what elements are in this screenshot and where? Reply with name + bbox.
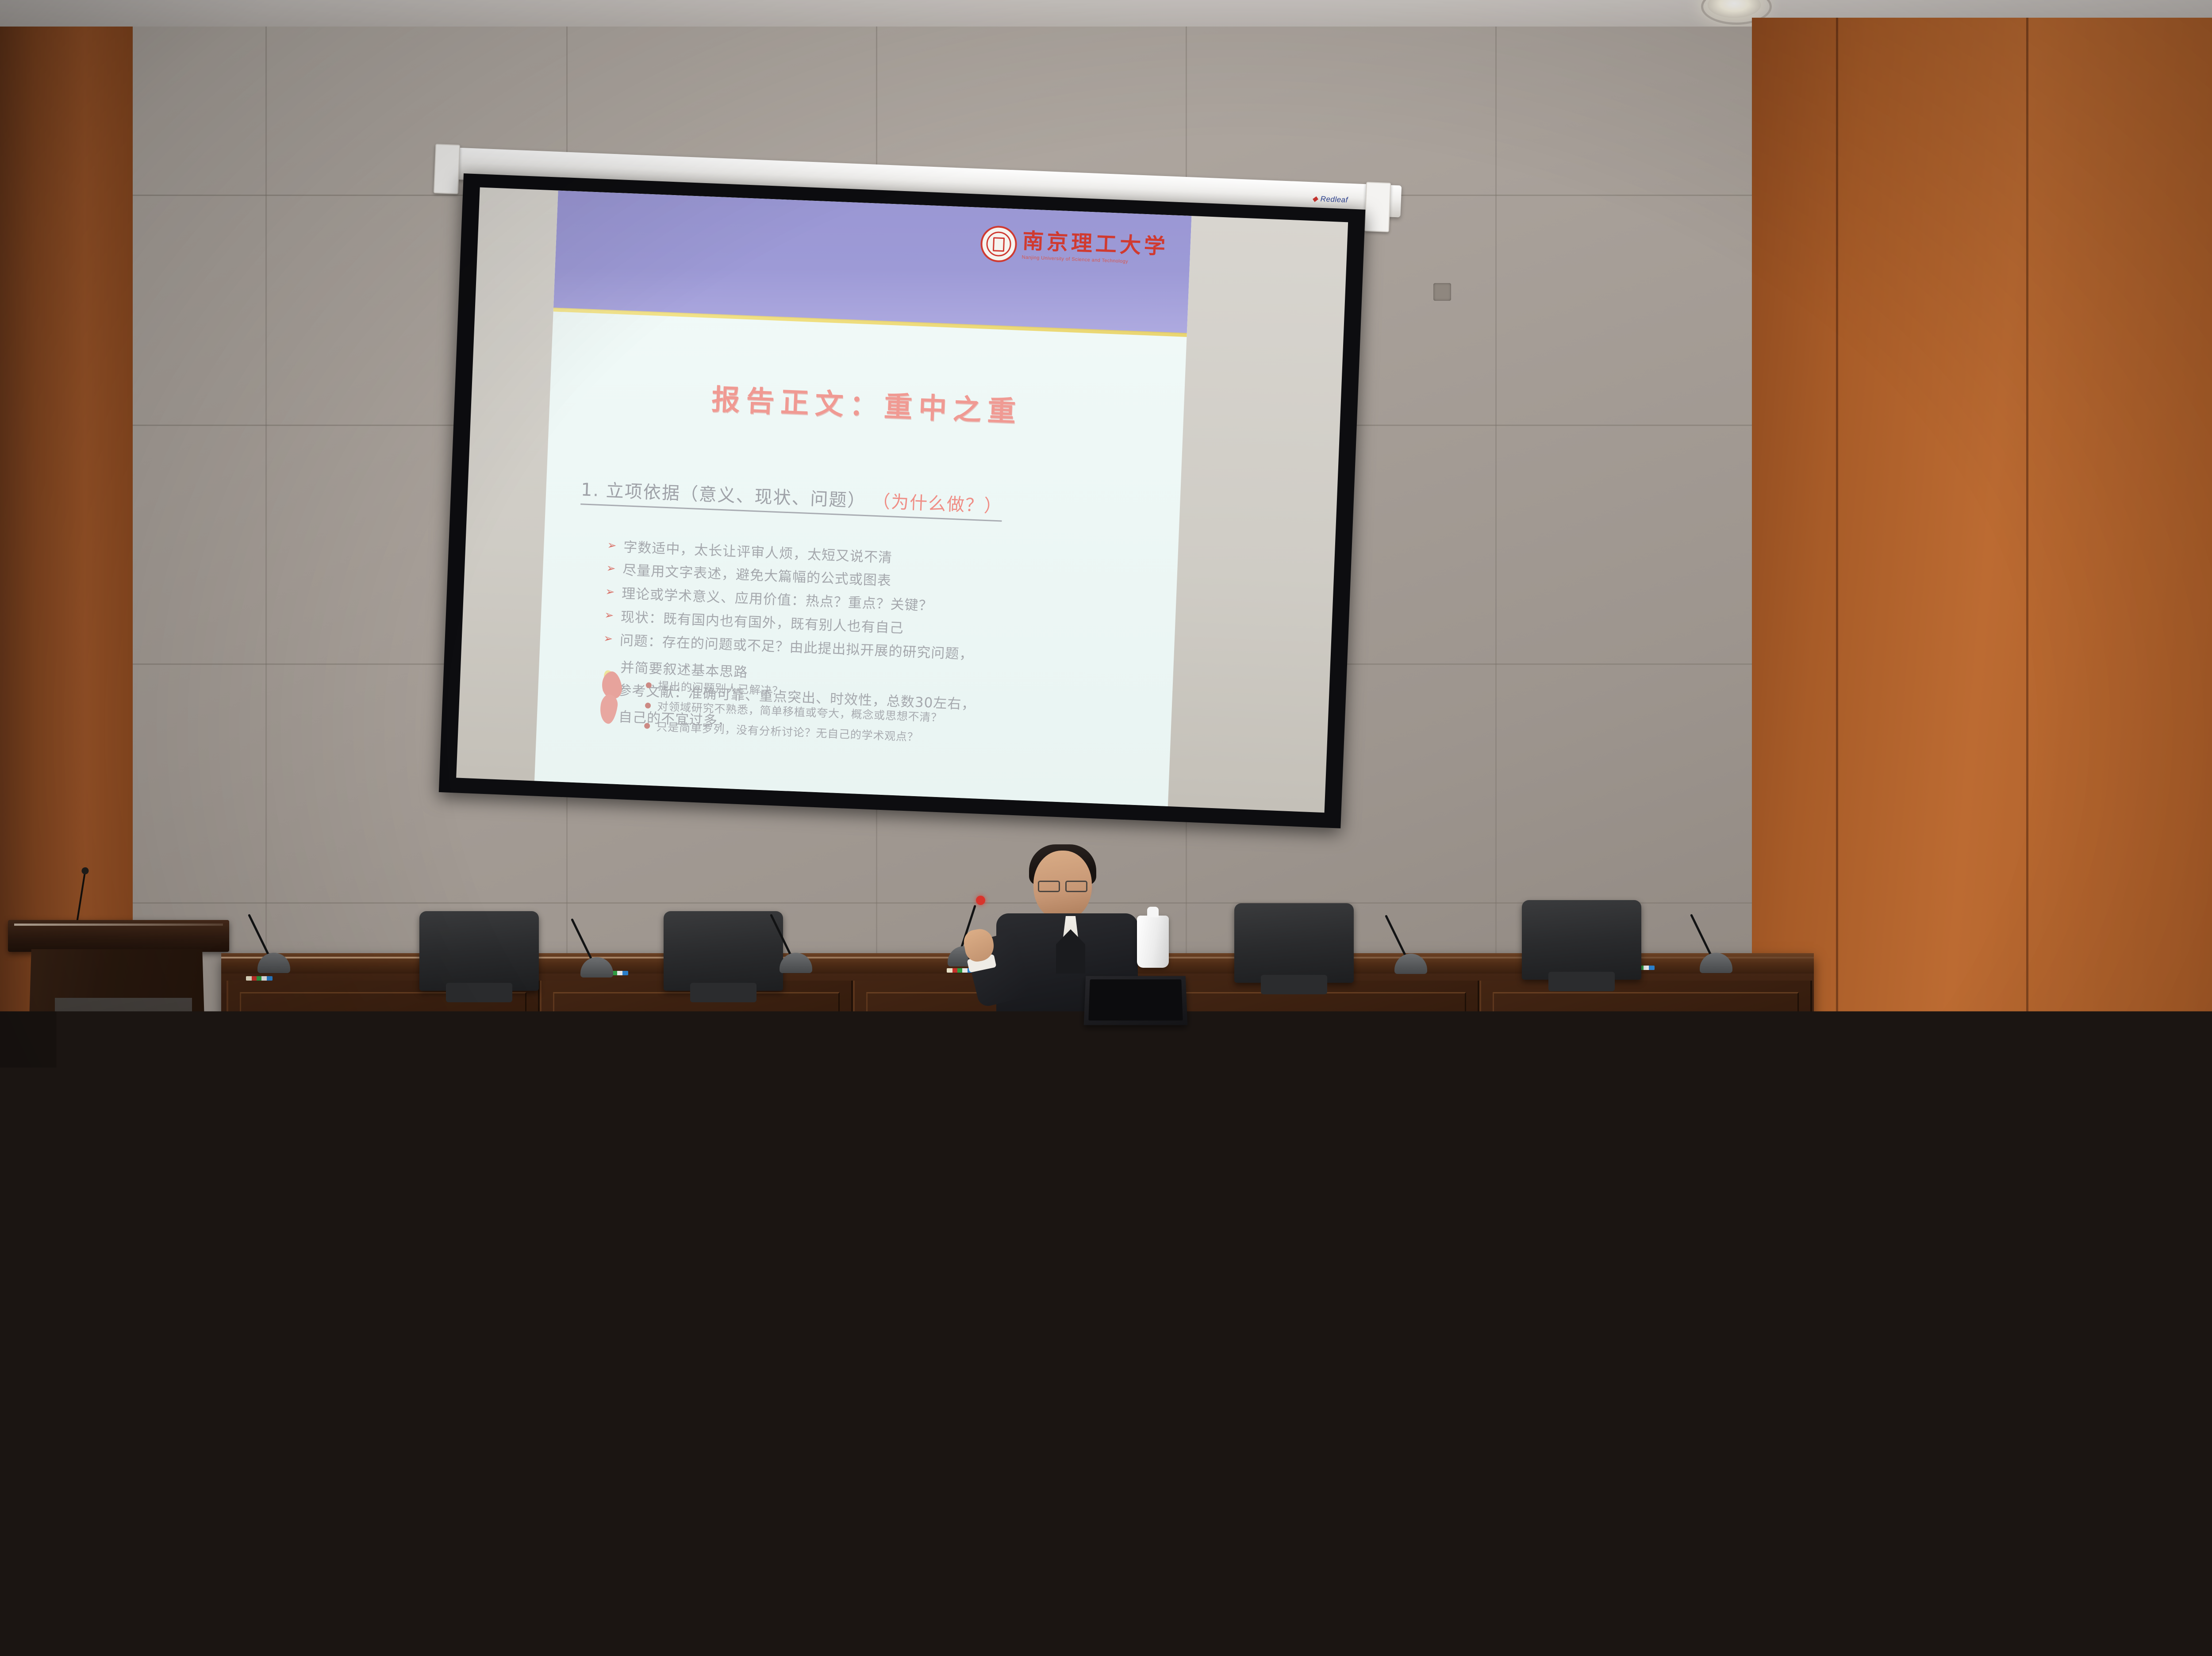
- nust-seal-icon: [980, 225, 1018, 263]
- bullet-arrow-icon: ➢: [606, 563, 616, 575]
- seal-name-en: TAIZHOU UNIVERSITY: [82, 1142, 165, 1149]
- audience-person: [1274, 1353, 1513, 1575]
- seal-inner-glyph: [97, 1083, 149, 1129]
- panel-table-cell: [227, 981, 540, 1135]
- audience-head: [790, 1371, 927, 1530]
- slide-heading-question: （为什么做？）: [872, 491, 1003, 517]
- screen-bracket-right: [1364, 182, 1391, 232]
- taizhou-university-seal-icon: 1941 TAIZHOU UNIVERSITY: [77, 1060, 170, 1153]
- audience-shoulders: [49, 1473, 279, 1566]
- audience-person: [1637, 1345, 1876, 1570]
- chevron-inlay-icon: [1527, 1046, 1764, 1098]
- nust-name-cn: 南京理工大学: [1022, 230, 1169, 257]
- podium-body: 1941 TAIZHOU UNIVERSITY: [24, 949, 210, 1197]
- audience-person: [380, 1327, 566, 1495]
- podium-front-panel: 1941 TAIZHOU UNIVERSITY: [55, 998, 192, 1184]
- presenter-name-text: 徐胜元: [1094, 1017, 1182, 1048]
- bullet-arrow-icon: ➢: [605, 586, 615, 598]
- gooseneck-microphone[interactable]: [571, 902, 619, 977]
- audience-person: [743, 1371, 973, 1583]
- chevron-inlay-icon: [1211, 1046, 1434, 1098]
- decorative-ribbon-icon: [597, 671, 626, 725]
- gooseneck-microphone[interactable]: [248, 898, 296, 973]
- projector-screen-brand-logo: ◆ Redleaf: [1312, 194, 1348, 204]
- panel-table-cell: [1166, 981, 1479, 1135]
- presenter-glasses-icon: [1038, 881, 1087, 890]
- li-ning-brand-text: LI-NING: [168, 1522, 211, 1533]
- panel-table-cell: [540, 981, 853, 1135]
- bullet-arrow-icon: ➢: [603, 633, 613, 644]
- presenter-name-card: 徐胜元: [1093, 1016, 1183, 1050]
- gooseneck-microphone[interactable]: [770, 898, 818, 973]
- chevron-inlay-icon: [585, 1046, 808, 1098]
- chevron-inlay-icon: [898, 1046, 1121, 1098]
- bullet-text: 现状：既有国内也有国外，既有别人也有自己: [620, 609, 904, 637]
- projection-screen[interactable]: 南京理工大学 Nanjing University of Science and…: [439, 173, 1366, 828]
- speaker-grille-icon: [2060, 1074, 2158, 1133]
- slide-heading-main: 立项依据（意义、现状、问题）: [606, 481, 866, 512]
- panel-table-cell: [1479, 981, 1812, 1135]
- slide-heading: 1. 立项依据（意义、现状、问题） （为什么做？）: [580, 475, 1003, 522]
- audience-seat[interactable]: [248, 1473, 495, 1656]
- slide-heading-number: 1.: [580, 479, 600, 501]
- lecture-hall-photo: ◆ Redleaf 南京理工大学 Nanjing University of S…: [0, 0, 2212, 1656]
- water-cup[interactable]: [1137, 916, 1169, 968]
- projected-slide: 南京理工大学 Nanjing University of Science and…: [534, 191, 1192, 806]
- audience-head: [1025, 1309, 1134, 1436]
- slide-title: 报告正文：重中之重: [549, 371, 1184, 437]
- right-wood-wall: [1752, 18, 2212, 1150]
- table-indicator-leds: [246, 976, 273, 981]
- note-dot-icon: [646, 682, 652, 688]
- seal-year: 1941: [115, 1125, 131, 1132]
- bullet-text: 字数适中，太长让评审人烦，太短又说不清: [623, 539, 893, 567]
- audience-head: [1935, 1292, 2046, 1421]
- note-dot-icon: [645, 702, 651, 709]
- note-dot-icon: [644, 723, 650, 729]
- bullet-text: 尽量用文字表述，避免大篇幅的公式或图表: [622, 563, 892, 590]
- stage-side-rail: [2053, 1154, 2212, 1211]
- panel-chair[interactable]: [664, 911, 783, 991]
- audience-head: [1685, 1345, 1828, 1513]
- audience-head: [2199, 1336, 2212, 1509]
- audience-head: [1568, 1256, 1652, 1351]
- audience-raised-hand: [2185, 1212, 2204, 1241]
- podium-desktop: [8, 920, 229, 952]
- panel-chair[interactable]: [419, 911, 539, 991]
- audience-head: [424, 1327, 523, 1442]
- audience-head: [1323, 1353, 1464, 1518]
- audience-person-li-ning: LI-NING: [49, 1340, 279, 1561]
- wall-vent-plate: [1433, 283, 1451, 301]
- audience-person: [960, 1159, 1137, 1327]
- gooseneck-microphone[interactable]: [1690, 898, 1739, 973]
- audience-person: [1893, 1292, 2088, 1473]
- nust-logo: 南京理工大学 Nanjing University of Science and…: [980, 225, 1169, 269]
- audience-head: [97, 1340, 230, 1491]
- screen-bracket-left: [434, 144, 460, 194]
- bullet-arrow-icon: ➢: [604, 610, 614, 621]
- audience-phone-camera[interactable]: [1876, 1252, 1914, 1276]
- audience-person: [2150, 1336, 2212, 1566]
- screen-surface: 南京理工大学 Nanjing University of Science and…: [456, 188, 1348, 813]
- chevron-inlay-icon: [272, 1046, 495, 1098]
- lectern-podium[interactable]: 1941 TAIZHOU UNIVERSITY: [13, 920, 217, 1221]
- audience-phone[interactable]: [408, 1296, 429, 1330]
- bullet-arrow-icon: ➢: [607, 540, 617, 551]
- panel-chair[interactable]: [1234, 903, 1354, 983]
- gooseneck-microphone[interactable]: [1385, 899, 1433, 974]
- panel-chair[interactable]: [1522, 900, 1641, 980]
